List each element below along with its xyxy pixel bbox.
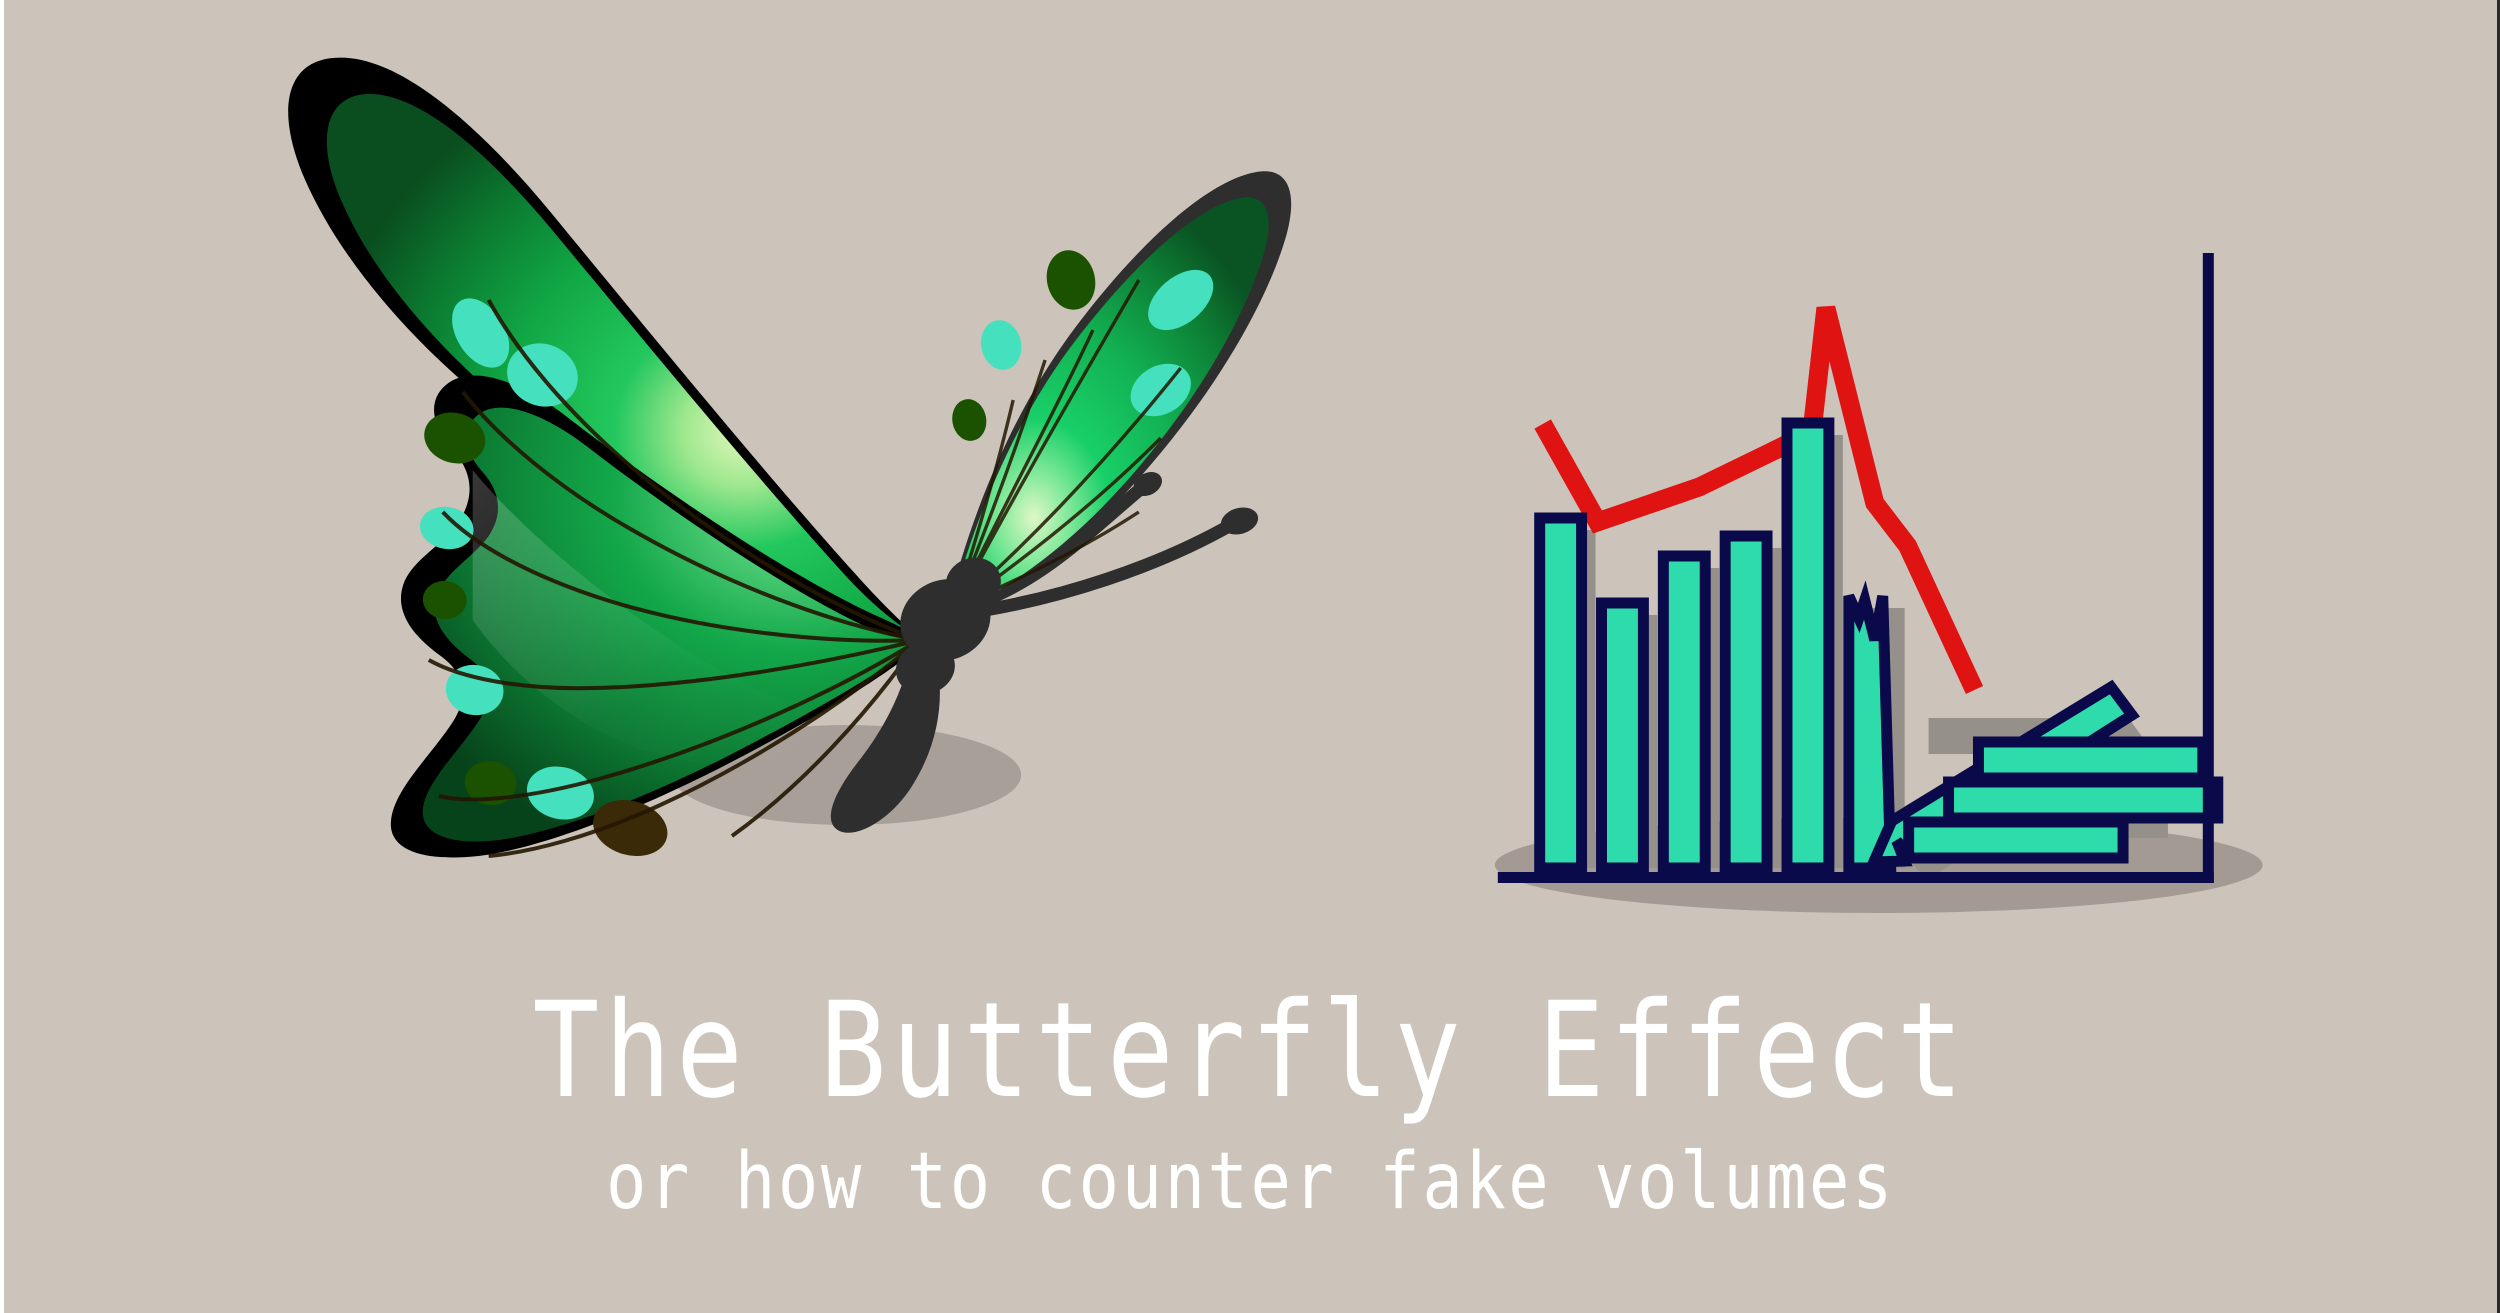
bar-4 bbox=[1725, 536, 1767, 868]
bar-1 bbox=[1540, 518, 1582, 868]
bar-2 bbox=[1602, 603, 1644, 868]
fallen-bar-top bbox=[1978, 742, 2202, 778]
bar-5 bbox=[1787, 423, 1829, 868]
poster-artwork bbox=[4, 0, 2497, 1313]
fallen-bar-bottom bbox=[1909, 822, 2123, 858]
poster-canvas: The Butterfly Effect or how to counter f… bbox=[0, 0, 2500, 1313]
x-axis-baseline bbox=[1498, 872, 2214, 883]
y-axis-line bbox=[2203, 253, 2214, 883]
bar-3 bbox=[1663, 556, 1705, 868]
fallen-bar-middle bbox=[1949, 782, 2218, 818]
